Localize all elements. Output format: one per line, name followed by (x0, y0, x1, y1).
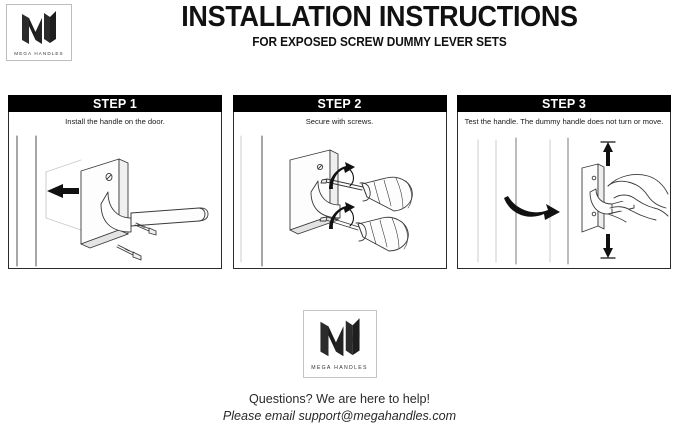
brand-wordmark: MEGA HANDLES (14, 51, 63, 56)
footer-brand-logo: MEGA HANDLES (303, 310, 377, 378)
step-card-3: STEP 3 Test the handle. The dummy handle… (457, 95, 671, 269)
step-1-illustration (9, 134, 221, 268)
step-2-body: Secure with screws. (233, 112, 447, 269)
footer-brand-wordmark: MEGA HANDLES (311, 365, 368, 371)
steps-container: STEP 1 Install the handle on the door. (8, 95, 671, 269)
step-2-illustration (234, 134, 446, 268)
title-block: INSTALLATION INSTRUCTIONS FOR EXPOSED SC… (80, 2, 679, 50)
support-email-line: Please email support@megahandles.com (0, 408, 679, 424)
no-turn-curved-arrow (504, 196, 560, 220)
page-header: MEGA HANDLES INSTALLATION INSTRUCTIONS F… (0, 0, 679, 72)
step-3-description: Test the handle. The dummy handle does n… (464, 117, 664, 127)
step-1-description: Install the handle on the door. (15, 117, 215, 127)
no-move-up-arrow (603, 142, 613, 166)
support-question-line: Questions? We are here to help! (0, 391, 679, 407)
page-title: INSTALLATION INSTRUCTIONS (101, 2, 658, 33)
step-1-header: STEP 1 (8, 95, 222, 112)
step-2-description: Secure with screws. (240, 117, 440, 127)
screw-lower (117, 245, 141, 260)
page-footer: MEGA HANDLES Questions? We are here to h… (0, 310, 679, 424)
step-1-body: Install the handle on the door. (8, 112, 222, 269)
page-subtitle: FOR EXPOSED SCREW DUMMY LEVER SETS (98, 35, 661, 50)
no-move-down-arrow (603, 234, 613, 258)
install-direction-arrow (47, 184, 79, 198)
mh-monogram-icon (317, 317, 363, 361)
step-2-header: STEP 2 (233, 95, 447, 112)
step-3-illustration (458, 134, 670, 268)
step-3-header: STEP 3 (457, 95, 671, 112)
mh-monogram-icon (19, 10, 59, 48)
step-3-body: Test the handle. The dummy handle does n… (457, 112, 671, 269)
brand-logo: MEGA HANDLES (6, 4, 72, 61)
step-card-2: STEP 2 Secure with screws. (233, 95, 447, 269)
step-card-1: STEP 1 Install the handle on the door. (8, 95, 222, 269)
